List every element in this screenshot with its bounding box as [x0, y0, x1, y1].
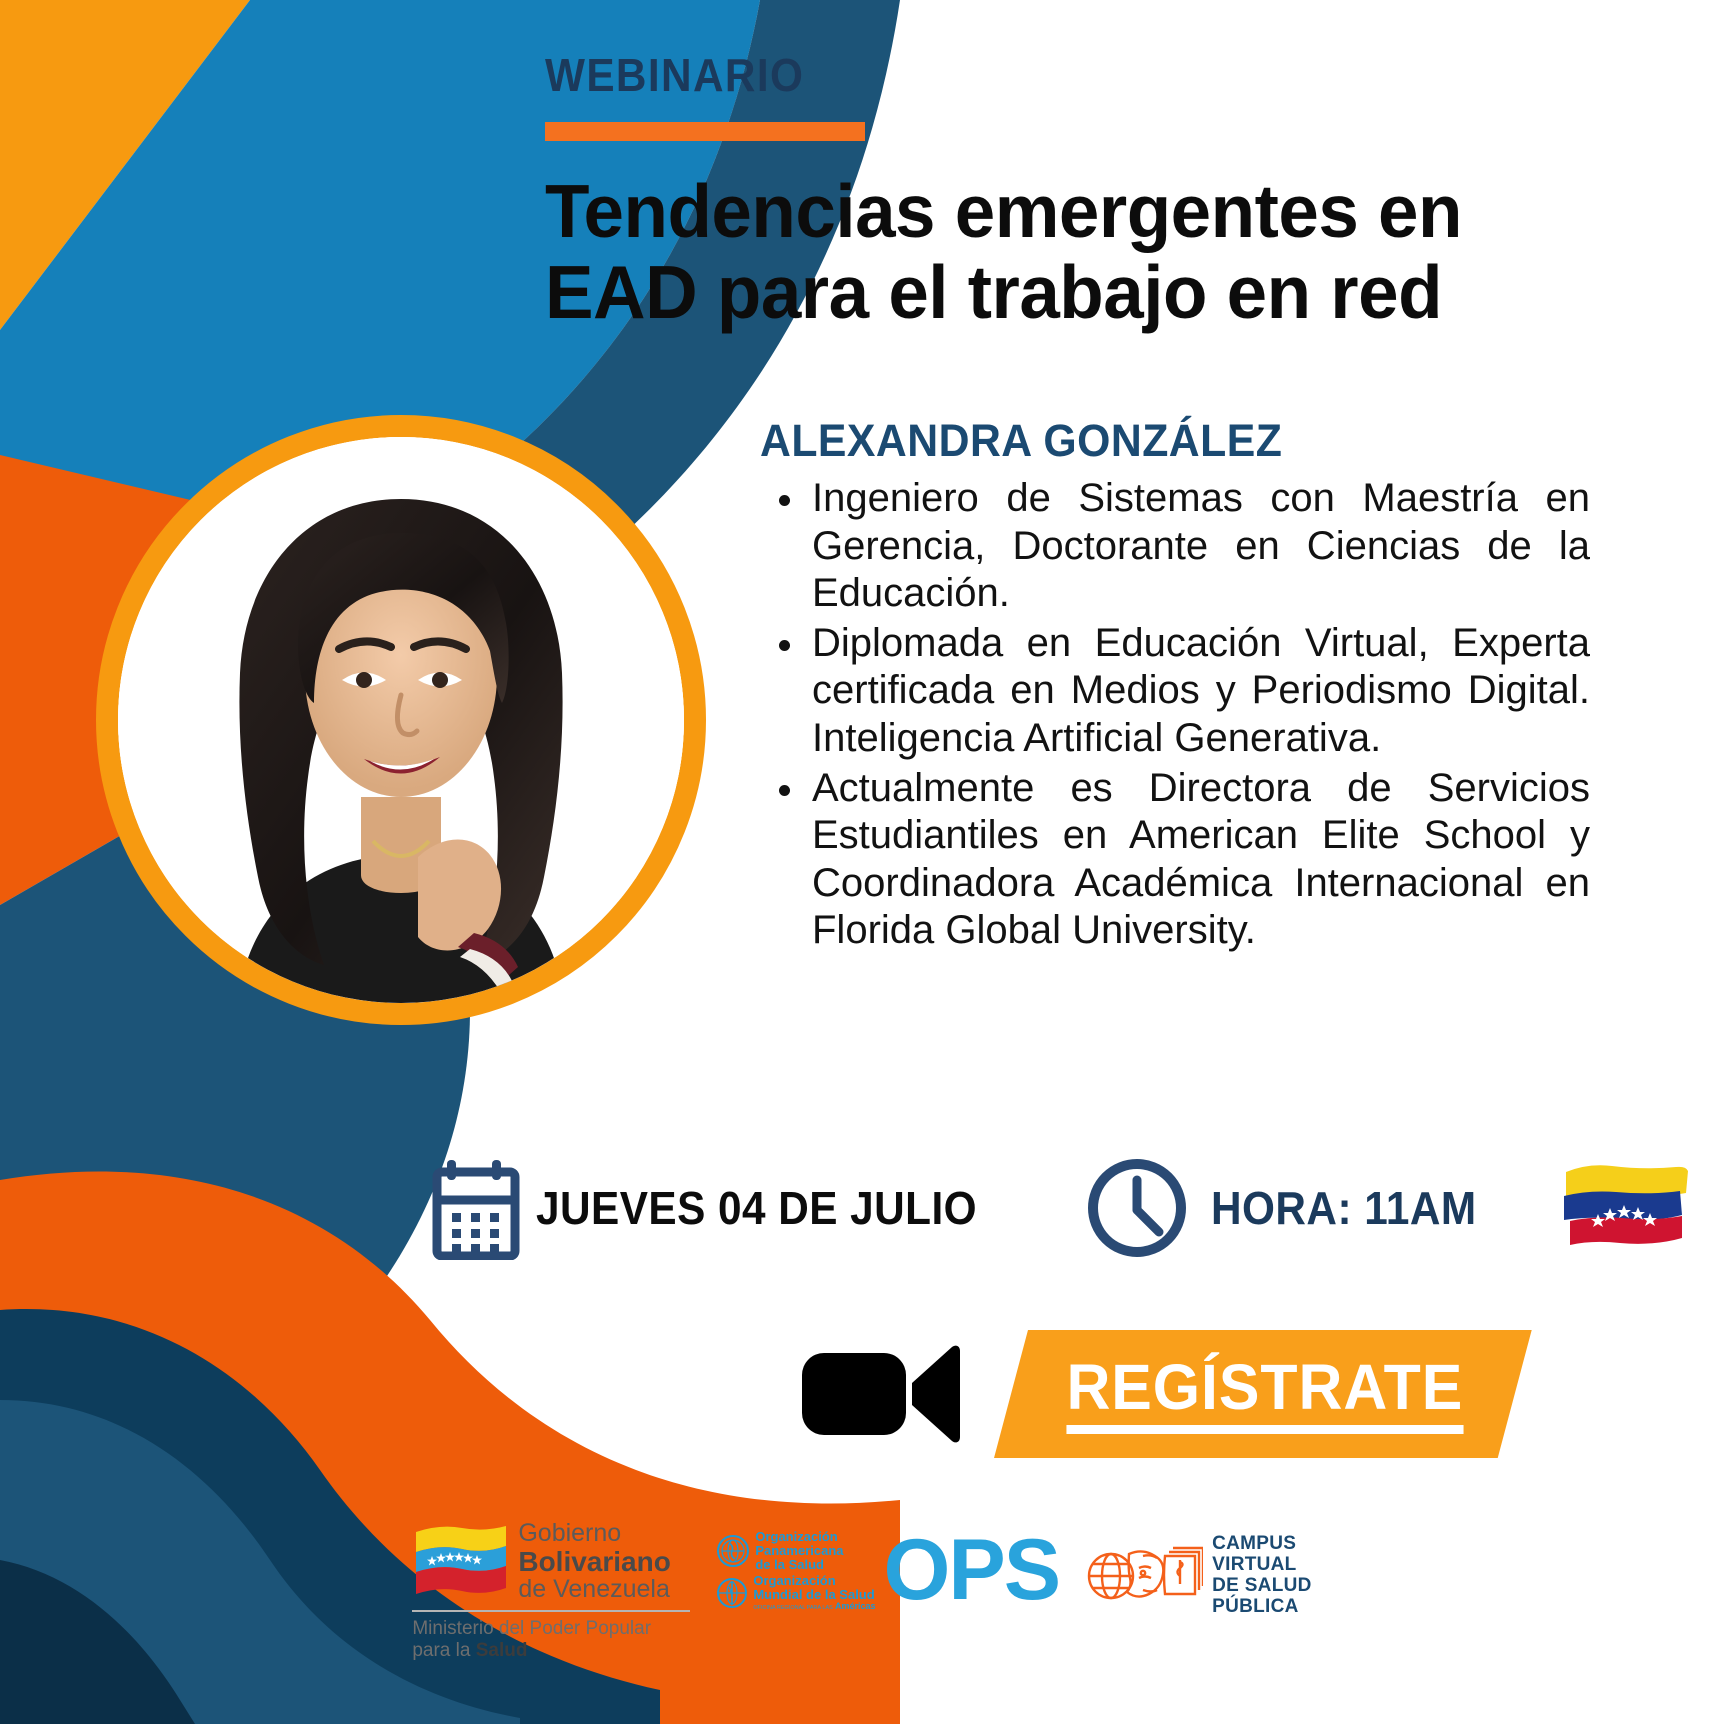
bio-item: Diplomada en Educación Virtual, Experta …	[812, 620, 1590, 763]
gobierno-line1: Gobierno	[518, 1520, 670, 1547]
photo-clip	[118, 437, 684, 1003]
cvsp-line1: CAMPUS	[1212, 1534, 1312, 1555]
event-time: HORA: 11AM	[1085, 1156, 1500, 1260]
gobierno-divider	[412, 1610, 690, 1612]
gobierno-line2: Bolivariano	[518, 1547, 670, 1577]
ministry-text: Ministerio del Poder Popular para la Sal…	[412, 1618, 690, 1663]
ops-logo: Organización Panamericana de la Salud	[716, 1530, 1059, 1612]
kicker-label: WEBINARIO	[545, 48, 1575, 102]
paho-line3: de la Salud	[755, 1558, 843, 1572]
cvsp-line2: VIRTUAL	[1212, 1555, 1312, 1576]
poster-header: WEBINARIO Tendencias emergentes en EAD p…	[545, 48, 1665, 333]
clock-icon	[1085, 1156, 1189, 1260]
paho-line1: Organización	[755, 1530, 843, 1544]
who-text: Organización Mundial de la Salud OFICINA…	[753, 1574, 875, 1611]
ministry-line2: para la Salud	[412, 1640, 690, 1662]
register-button-label: REGÍSTRATE	[1066, 1355, 1463, 1434]
ops-acronym: OPS	[884, 1534, 1060, 1608]
event-date-label: JUEVES 04 DE JULIO	[536, 1181, 977, 1235]
page-title: Tendencias emergentes en EAD para el tra…	[545, 171, 1631, 333]
gobierno-line3: de Venezuela	[518, 1576, 670, 1603]
event-date: JUEVES 04 DE JULIO	[430, 1156, 1015, 1260]
footer-logos: Gobierno Bolivariano de Venezuela Minist…	[0, 1520, 1724, 1662]
register-row[interactable]: REGÍSTRATE	[800, 1330, 1532, 1458]
who-region: OFICINA REGIONAL PARA LAS Américas	[753, 1602, 875, 1612]
video-camera-icon[interactable]	[800, 1339, 960, 1449]
bio-item: Actualmente es Directora de Servicios Es…	[812, 765, 1590, 955]
who-line1: Organización	[753, 1574, 875, 1588]
register-button[interactable]: REGÍSTRATE	[994, 1330, 1532, 1458]
cvsp-text: CAMPUS VIRTUAL DE SALUD PÚBLICA	[1212, 1534, 1312, 1618]
ministry-line1: Ministerio del Poder Popular	[412, 1618, 690, 1640]
who-emblem-icon	[716, 1577, 748, 1609]
paho-text: Organización Panamericana de la Salud	[755, 1530, 843, 1571]
paho-line2: Panamericana	[755, 1544, 843, 1558]
gobierno-logo: Gobierno Bolivariano de Venezuela Minist…	[412, 1520, 690, 1662]
accent-rule	[545, 122, 865, 141]
speaker-photo	[96, 415, 706, 1025]
speaker-info: ALEXANDRA GONZÁLEZ Ingeniero de Sistemas…	[760, 415, 1590, 957]
speaker-bio-list: Ingeniero de Sistemas con Maestría en Ge…	[760, 475, 1590, 955]
who-line2: Mundial de la Salud	[753, 1588, 875, 1602]
venezuela-flag-brush-icon	[1558, 1150, 1688, 1266]
cvsp-line4: PÚBLICA	[1212, 1597, 1312, 1618]
speaker-name: ALEXANDRA GONZÁLEZ	[760, 415, 1549, 467]
event-meta-row: JUEVES 04 DE JULIO HORA: 11AM	[430, 1150, 1688, 1266]
bio-item: Ingeniero de Sistemas con Maestría en Ge…	[812, 475, 1590, 618]
paho-globe-icon	[716, 1534, 750, 1568]
venezuela-flag-icon	[412, 1522, 508, 1600]
cvsp-logo: CAMPUS VIRTUAL DE SALUD PÚBLICA	[1085, 1534, 1312, 1618]
campus-virtual-icon	[1085, 1540, 1203, 1612]
cvsp-line3: DE SALUD	[1212, 1576, 1312, 1597]
event-time-label: HORA: 11AM	[1211, 1181, 1477, 1235]
webinar-poster: WEBINARIO Tendencias emergentes en EAD p…	[0, 0, 1724, 1724]
calendar-icon	[430, 1156, 522, 1260]
avatar	[118, 437, 684, 1003]
venezuela-flag-brush	[1558, 1150, 1688, 1266]
